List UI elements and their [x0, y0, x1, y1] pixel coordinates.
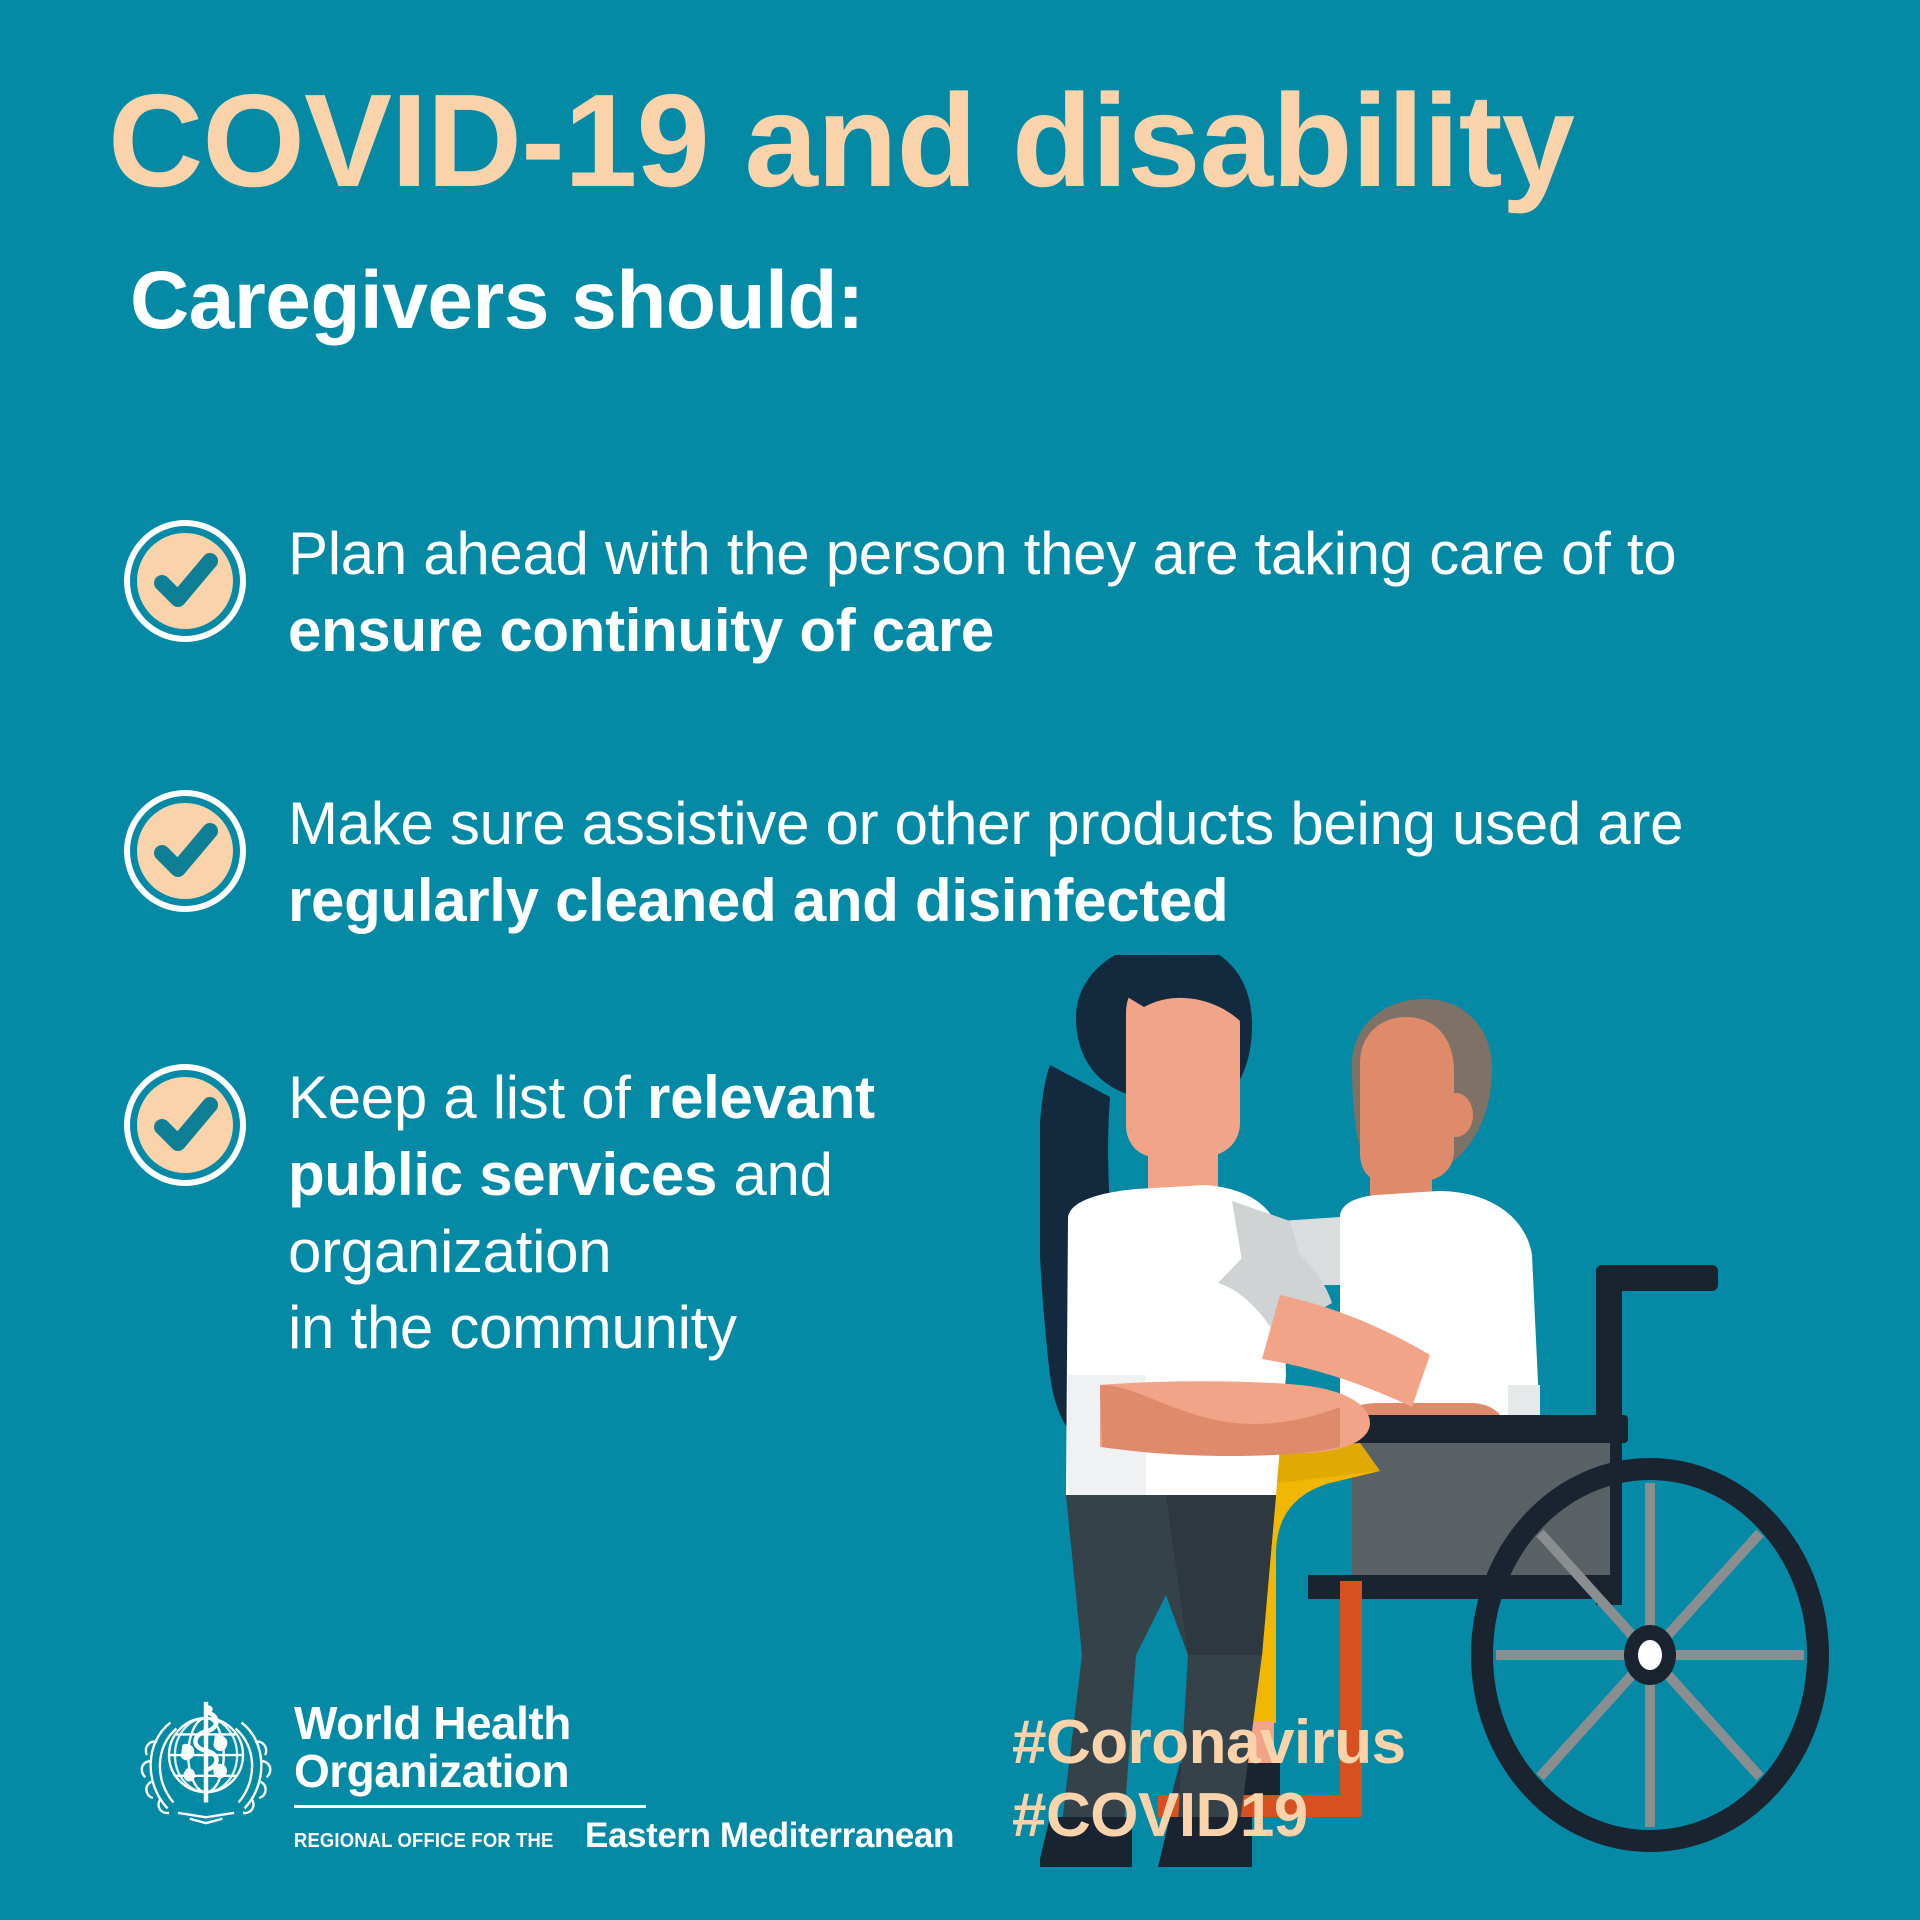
who-region: REGIONAL OFFICE FOR THE Eastern Mediterr… — [294, 1816, 954, 1856]
who-region-prefix: REGIONAL OFFICE FOR THE — [294, 1830, 553, 1853]
who-region-name: Eastern Mediterranean — [585, 1816, 954, 1856]
seated-face — [1360, 1017, 1454, 1181]
list-item: Plan ahead with the person they are taki… — [122, 516, 1682, 670]
who-divider — [294, 1805, 646, 1808]
footer: World Health Organization REGIONAL OFFIC… — [132, 1690, 1406, 1856]
wheelchair-wheel — [1482, 1469, 1818, 1841]
list-item-text: Make sure assistive or other products be… — [288, 786, 1722, 940]
who-logo: World Health Organization REGIONAL OFFIC… — [132, 1690, 954, 1856]
list-item-text: Plan ahead with the person they are taki… — [288, 516, 1682, 670]
wheelchair-push-handle — [1596, 1265, 1718, 1291]
who-line-1: World Health — [294, 1700, 954, 1748]
seated-ear — [1439, 1093, 1473, 1137]
who-wordmark: World Health Organization REGIONAL OFFIC… — [294, 1690, 954, 1856]
check-circle-icon — [122, 1062, 248, 1188]
wheel-hub-center — [1638, 1640, 1662, 1670]
list-item: Keep a list of relevant public services … — [122, 1060, 942, 1367]
page-title: COVID-19 and disability — [108, 72, 1868, 211]
section-subtitle: Caregivers should: — [130, 254, 864, 348]
infographic-poster: COVID-19 and disability Caregivers shoul… — [0, 0, 1920, 1920]
check-circle-icon — [122, 518, 248, 644]
who-emblem-icon — [132, 1690, 280, 1838]
check-circle-icon — [122, 788, 248, 914]
hashtag-coronavirus: #Coronavirus — [1012, 1706, 1406, 1779]
hashtag-group: #Coronavirus #COVID19 — [1012, 1690, 1406, 1852]
who-line-2: Organization — [294, 1748, 954, 1796]
hashtag-covid19: #COVID19 — [1012, 1779, 1406, 1852]
list-item-text: Keep a list of relevant public services … — [288, 1060, 942, 1367]
list-item: Make sure assistive or other products be… — [122, 786, 1722, 940]
